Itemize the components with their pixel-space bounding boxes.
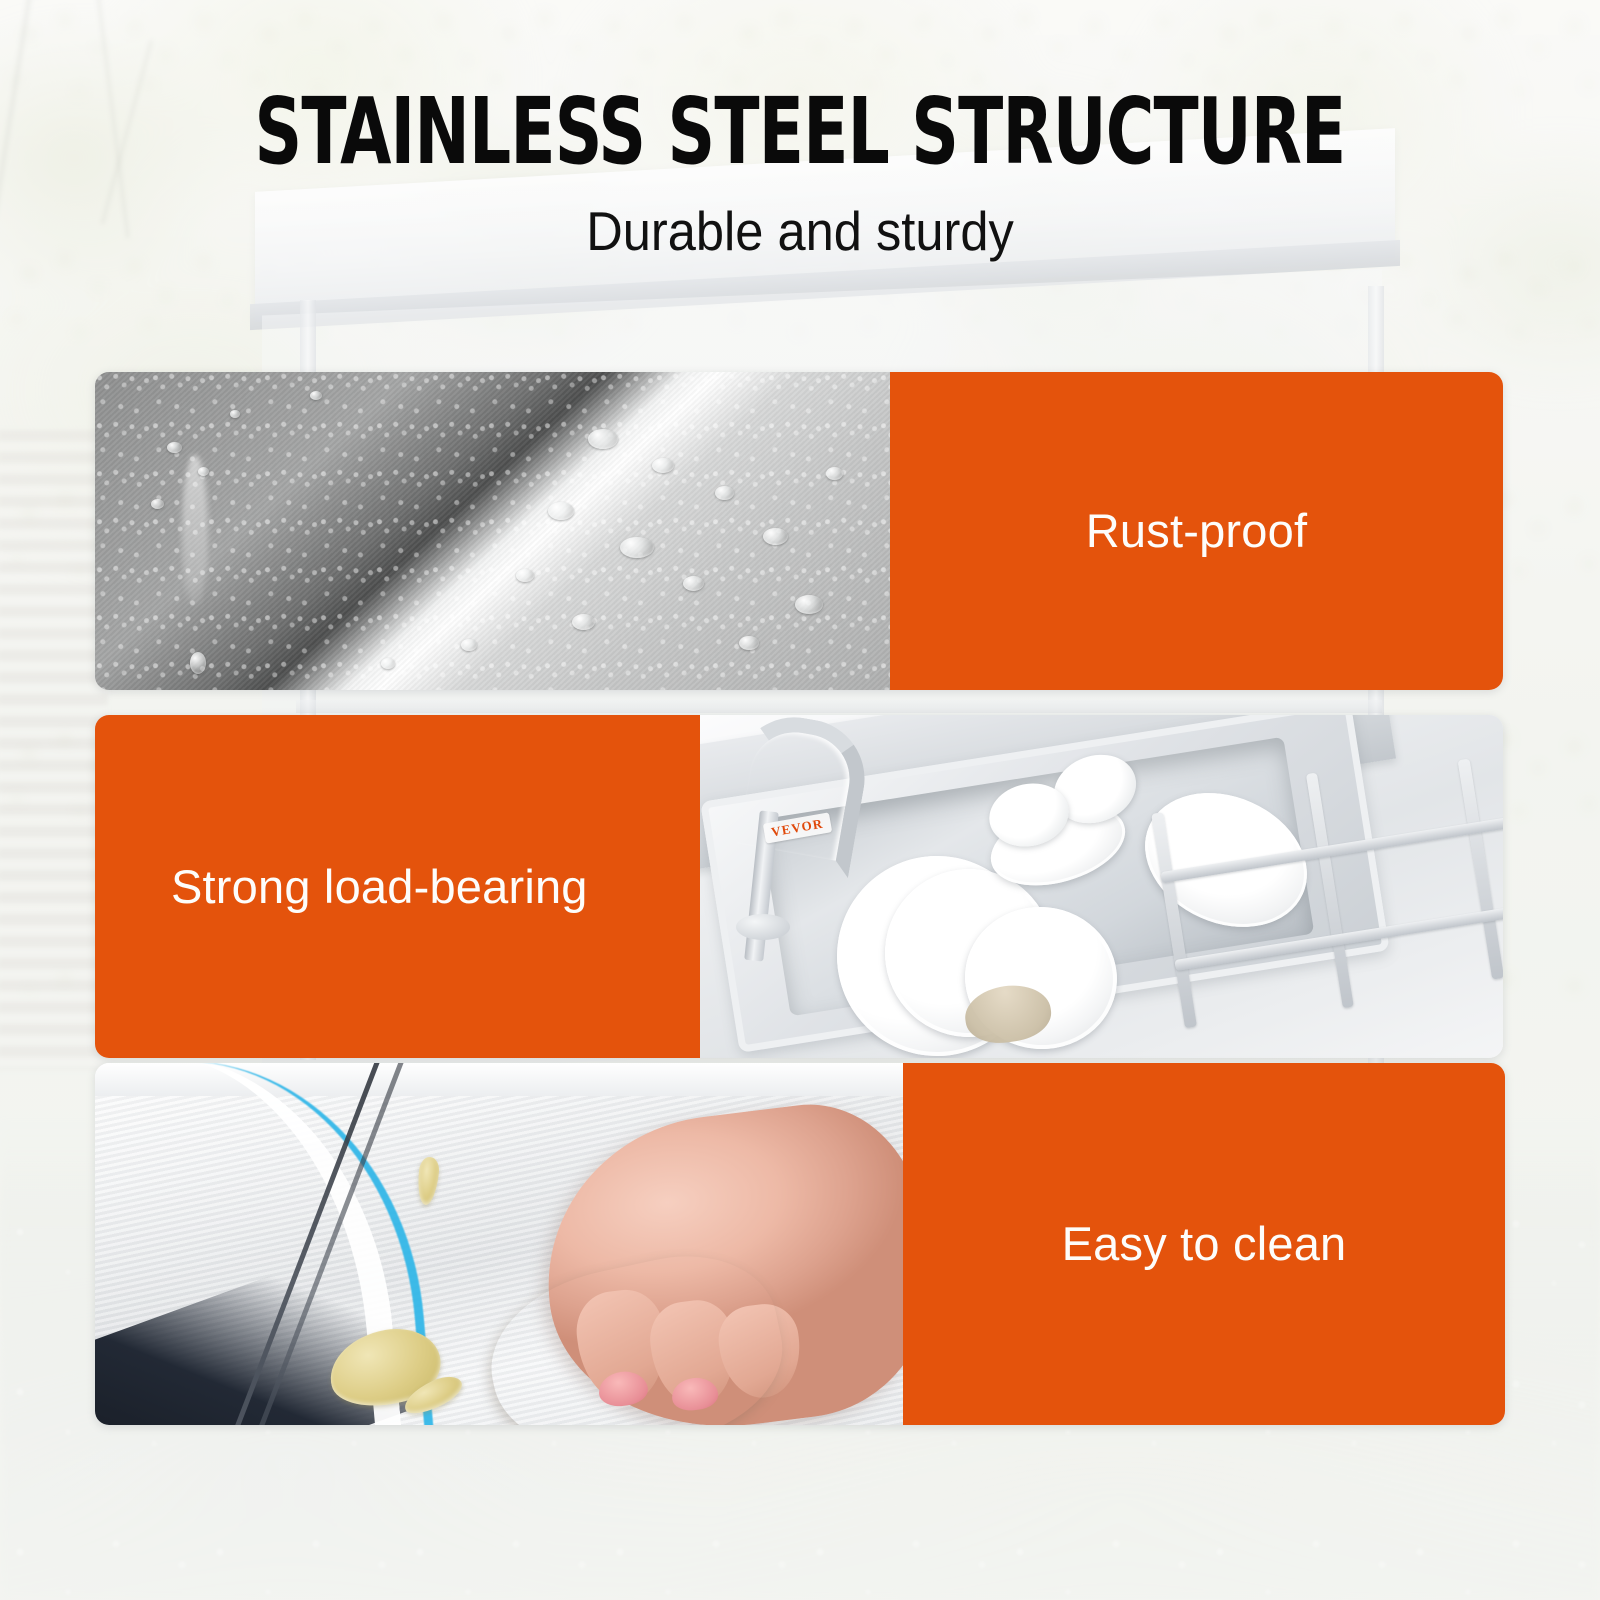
feature-media-easy-to-clean (95, 1063, 903, 1425)
feature-caption-panel-easy-to-clean: Easy to clean (903, 1063, 1505, 1425)
photo-dishes-in-sink: VEVOR (700, 715, 1503, 1058)
feature-row-easy-to-clean: Easy to clean (95, 1063, 1505, 1425)
rack-bar (1457, 758, 1503, 979)
feature-caption-panel-strong-load-bearing: Strong load-bearing (95, 715, 700, 1058)
page-title: STAINLESS STEEL STRUCTURE (160, 86, 1440, 178)
faucet-base (736, 914, 790, 940)
feature-caption-rust-proof: Rust-proof (890, 505, 1503, 557)
rack-bar (1306, 772, 1354, 1008)
feature-caption-easy-to-clean: Easy to clean (903, 1218, 1505, 1270)
photo-hand-wiping-counter (95, 1063, 903, 1425)
feature-caption-strong-load-bearing: Strong load-bearing (95, 861, 700, 913)
feature-media-strong-load-bearing: VEVOR (700, 715, 1503, 1058)
feature-caption-panel-rust-proof: Rust-proof (890, 372, 1503, 690)
feature-media-rust-proof (95, 372, 890, 690)
photo-water-droplets-on-steel (95, 372, 890, 690)
water-droplet-group (95, 372, 890, 690)
page-subtitle: Durable and sturdy (64, 200, 1536, 263)
feature-row-rust-proof: Rust-proof (95, 372, 1503, 690)
feature-row-strong-load-bearing: Strong load-bearing VEVOR (95, 715, 1503, 1058)
